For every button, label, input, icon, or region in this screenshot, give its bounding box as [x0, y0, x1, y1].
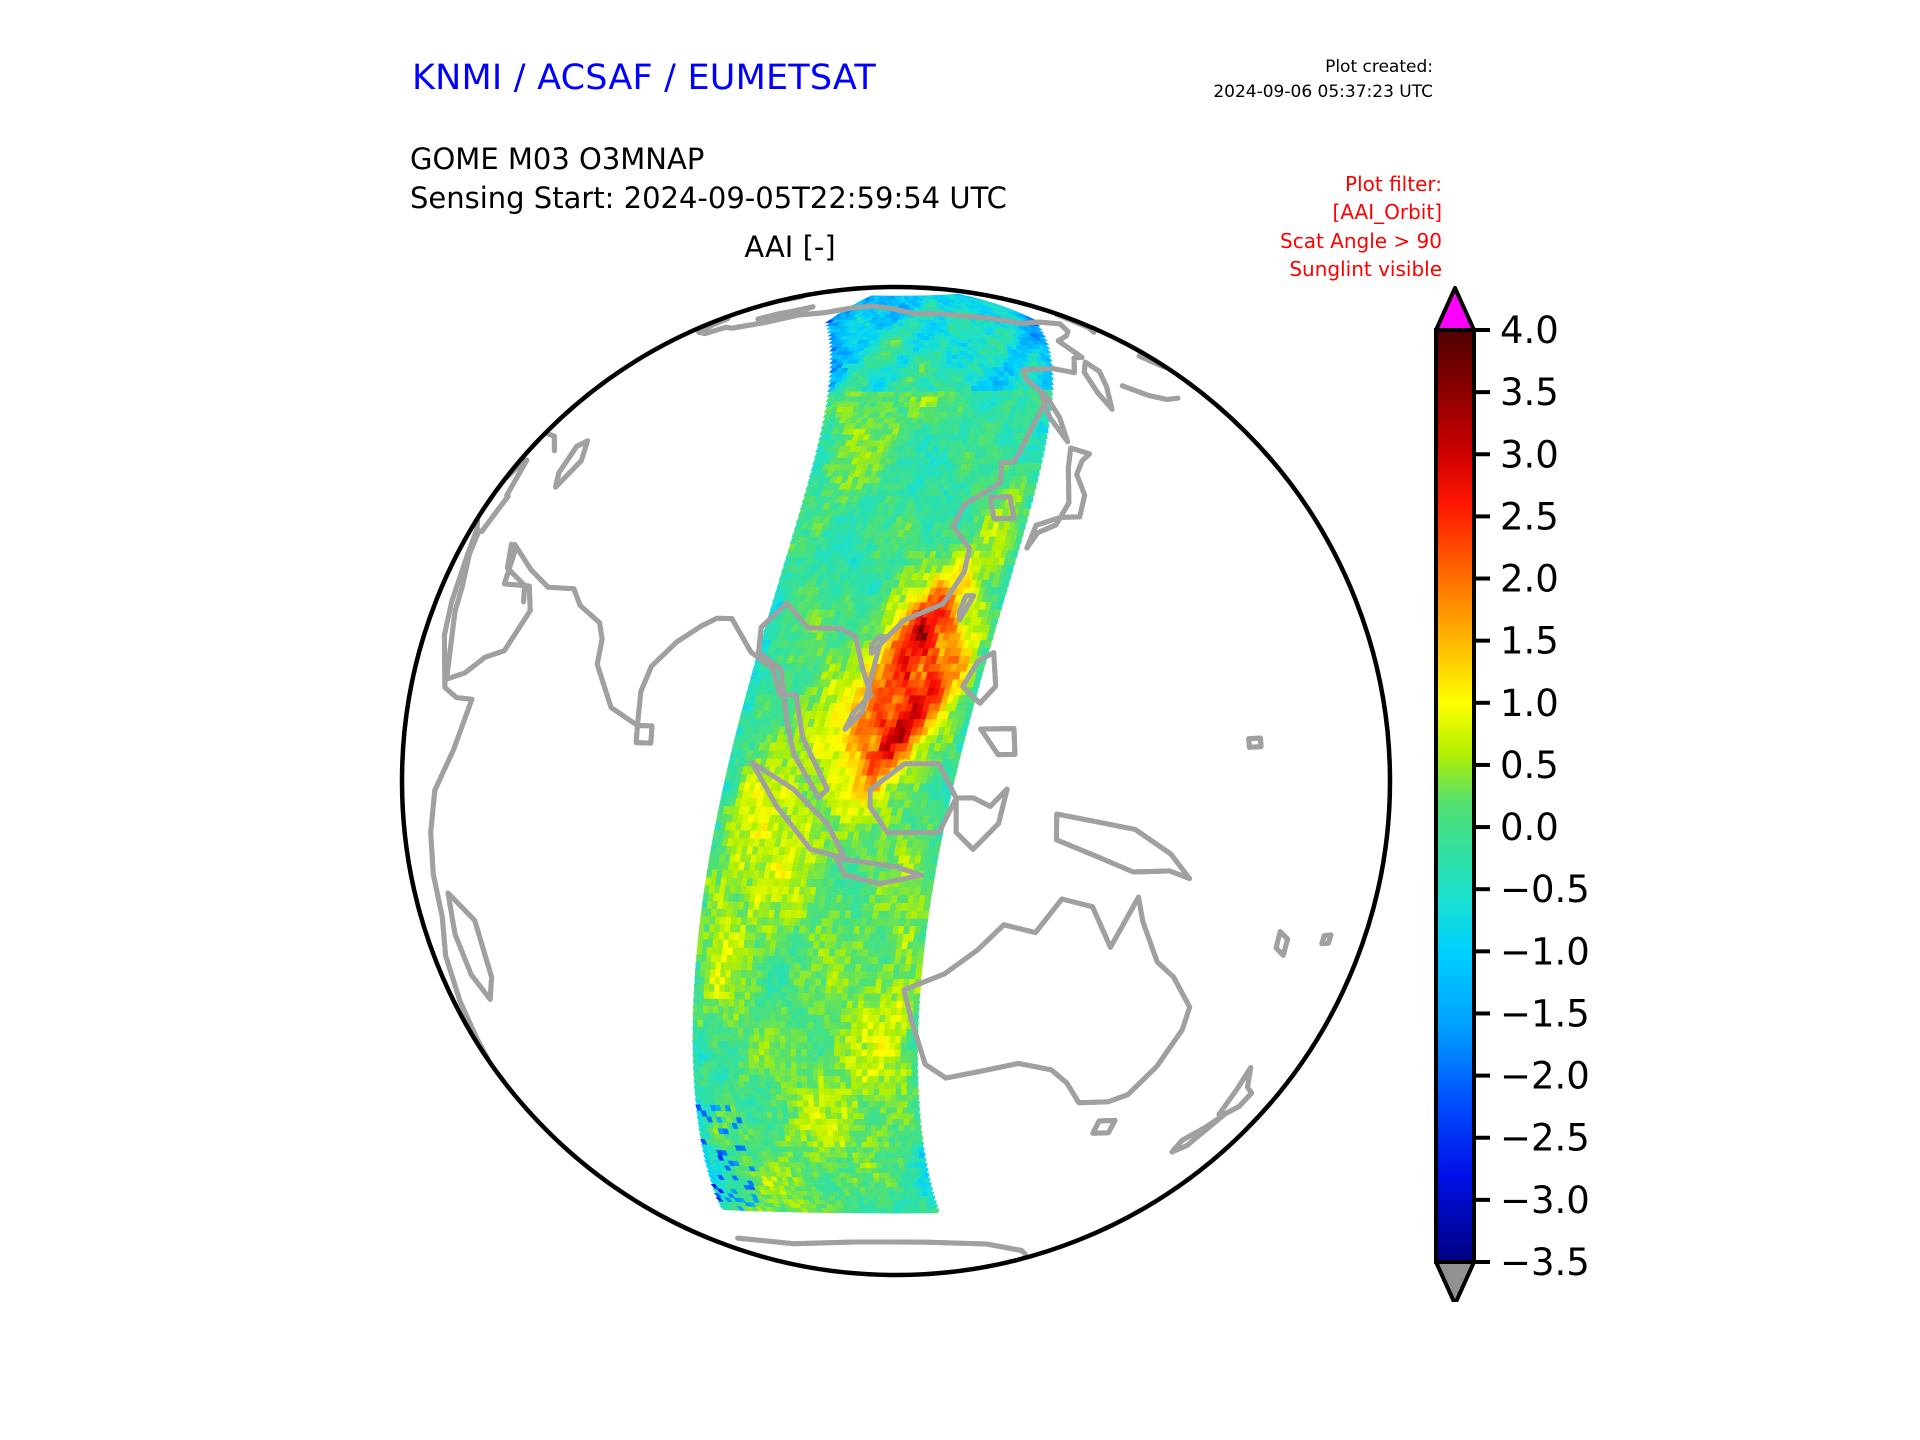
swath-pixel: [729, 1007, 734, 1014]
swath-pixel: [798, 1001, 804, 1008]
swath-pixel: [962, 382, 968, 387]
swath-pixel: [1004, 483, 1010, 490]
swath-pixel: [784, 971, 790, 978]
swath-pixel: [947, 360, 953, 364]
swath-pixel: [915, 324, 921, 327]
swath-pixel: [738, 948, 744, 956]
swath-pixel: [755, 1000, 760, 1007]
swath-pixel: [977, 391, 982, 396]
swath-pixel: [760, 1014, 765, 1021]
swath-pixel: [1011, 476, 1017, 483]
swath-pixel: [925, 360, 931, 364]
swath-pixel: [725, 985, 730, 992]
swath-pixel: [1029, 489, 1035, 496]
swath-pixel: [786, 1029, 791, 1036]
swath-pixel: [921, 919, 928, 927]
swath-pixel: [952, 351, 958, 355]
swath-pixel: [802, 1029, 808, 1036]
swath-pixel: [734, 1007, 739, 1014]
swath-pixel: [1036, 439, 1042, 445]
swath-pixel: [1017, 428, 1023, 434]
swath-pixel: [748, 948, 754, 956]
swath-pixel: [940, 340, 946, 344]
swath-pixel: [941, 373, 947, 378]
swath-pixel: [766, 993, 772, 1000]
swath-pixel: [819, 1022, 825, 1029]
swath-pixel: [924, 344, 930, 348]
swath-pixel: [723, 940, 729, 948]
swath-pixel: [913, 344, 919, 348]
swath-pixel: [998, 595, 1005, 603]
swath-pixel: [709, 985, 714, 992]
swath-pixel: [701, 962, 706, 970]
swath-pixel: [737, 956, 743, 964]
swath-pixel: [713, 940, 718, 948]
swath-pixel: [711, 963, 716, 971]
swath-pixel: [1011, 434, 1016, 440]
swath-pixel: [698, 940, 703, 948]
swath-pixel: [699, 999, 704, 1006]
plot-title-block: GOME M03 O3MNAP Sensing Start: 2024-09-0…: [410, 140, 1007, 218]
swath-pixel: [700, 970, 705, 978]
swath-pixel: [992, 396, 998, 401]
swath-pixel: [982, 446, 988, 452]
swath-pixel: [913, 1001, 920, 1008]
swath-pixel: [750, 1000, 755, 1007]
swath-pixel: [739, 1021, 745, 1028]
swath-pixel: [903, 321, 909, 324]
swath-pixel: [1033, 476, 1038, 483]
swath-pixel: [805, 979, 811, 986]
swath-pixel: [922, 330, 928, 333]
swath-pixel: [761, 986, 767, 993]
sensing-start-title: Sensing Start: 2024-09-05T22:59:54 UTC: [410, 179, 1007, 218]
swath-pixel: [723, 1028, 729, 1035]
swath-pixel: [797, 1015, 803, 1022]
swath-pixel: [946, 377, 952, 382]
swath-pixel: [992, 470, 998, 476]
swath-pixel: [726, 970, 731, 978]
swath-pixel: [804, 986, 810, 993]
swath-pixel: [924, 895, 931, 903]
swath-pixel: [1003, 580, 1010, 588]
swath-pixel: [776, 1015, 781, 1022]
swath-pixel: [947, 351, 953, 355]
swath-pixel: [951, 382, 957, 387]
swath-pixel: [744, 1021, 750, 1028]
swath-pixel: [1004, 417, 1009, 423]
swath-pixel: [702, 947, 707, 955]
swath-pixel: [941, 364, 947, 369]
swath-pixel: [978, 377, 984, 382]
swath-pixel: [930, 356, 936, 360]
swath-pixel: [743, 948, 749, 956]
swath-pixel: [998, 446, 1004, 452]
swath-pixel: [991, 401, 997, 406]
swath-pixel: [775, 1029, 780, 1036]
swath-pixel: [829, 1029, 835, 1036]
swath-pixel: [962, 412, 968, 418]
swath-pixel: [764, 956, 770, 964]
swath-pixel: [754, 948, 760, 956]
swath-pixel: [995, 406, 1001, 412]
swath-pixel: [1016, 537, 1022, 544]
swath-pixel: [778, 971, 784, 979]
swath-pixel: [986, 452, 992, 458]
swath-pixel: [972, 382, 978, 387]
swath-pixel: [769, 956, 775, 964]
swath-pixel: [771, 1007, 776, 1014]
swath-pixel: [716, 963, 721, 971]
swath-pixel: [997, 428, 1002, 434]
swath-pixel: [715, 925, 721, 933]
swath-pixel: [703, 1013, 709, 1020]
swath-pixel: [955, 392, 961, 397]
swath-pixel: [935, 373, 941, 378]
swath-pixel: [940, 336, 946, 340]
swath-pixel: [1027, 495, 1033, 502]
swath-pixel: [752, 963, 758, 971]
swath-pixel: [1024, 509, 1030, 516]
swath-pixel: [818, 1029, 824, 1036]
swath-pixel: [768, 964, 774, 972]
plot-created-label: Plot created:: [1213, 55, 1433, 80]
swath-pixel: [926, 888, 933, 896]
swath-pixel: [1015, 464, 1020, 470]
swath-pixel: [935, 340, 941, 344]
swath-pixel: [908, 321, 914, 324]
swath-pixel: [978, 440, 984, 446]
swath-pixel: [910, 327, 916, 330]
swath-pixel: [999, 440, 1005, 446]
swath-pixel: [1029, 470, 1034, 476]
swath-pixel: [776, 1022, 781, 1029]
swath-pixel: [930, 344, 936, 348]
swath-pixel: [736, 970, 741, 978]
swath-pixel: [788, 979, 794, 986]
swath-pixel: [1028, 451, 1033, 457]
swath-pixel: [698, 1013, 704, 1020]
swath-pixel: [1013, 470, 1019, 476]
swath-pixel: [800, 971, 806, 978]
swath-pixel: [978, 382, 984, 387]
swath-pixel: [996, 401, 1002, 406]
swath-pixel: [830, 1015, 836, 1022]
swath-pixel: [808, 1015, 814, 1022]
swath-pixel: [1011, 551, 1017, 558]
swath-pixel: [744, 1007, 749, 1014]
swath-pixel: [707, 947, 712, 955]
swath-pixel: [936, 360, 942, 364]
swath-pixel: [702, 955, 707, 963]
swath-pixel: [724, 999, 729, 1006]
swath-pixel: [971, 423, 977, 429]
swath-pixel: [995, 412, 1000, 418]
swath-pixel: [1006, 434, 1011, 440]
swath-pixel: [760, 1007, 765, 1014]
swath-pixel: [1017, 496, 1023, 503]
swath-pixel: [1013, 422, 1019, 428]
swath-pixel: [1009, 558, 1015, 565]
swath-pixel: [706, 962, 711, 970]
plot-filter-product: [AAI_Orbit]: [1280, 198, 1442, 226]
swath-pixel: [988, 386, 994, 391]
swath-pixel: [813, 1022, 819, 1029]
swath-pixel: [936, 356, 942, 360]
swath-pixel: [709, 932, 715, 940]
swath-pixel: [835, 1015, 841, 1022]
swath-pixel: [982, 423, 988, 429]
swath-pixel: [760, 941, 766, 949]
swath-pixel: [925, 320, 931, 323]
swath-pixel: [760, 1021, 765, 1028]
swath-pixel: [989, 412, 994, 418]
swath-pixel: [933, 330, 939, 333]
swath-pixel: [784, 964, 790, 972]
swath-pixel: [762, 978, 768, 985]
swath-pixel: [989, 440, 995, 446]
swath-pixel: [979, 412, 985, 418]
swath-pixel: [947, 368, 953, 373]
swath-pixel: [971, 397, 976, 402]
swath-pixel: [744, 1014, 749, 1021]
swath-pixel: [935, 344, 941, 348]
swath-pixel: [996, 602, 1003, 610]
swath-pixel: [756, 986, 762, 993]
swath-pixel: [741, 978, 746, 985]
swath-pixel: [732, 963, 737, 971]
swath-pixel: [720, 978, 725, 985]
swath-pixel: [909, 324, 915, 327]
swath-pixel: [719, 932, 725, 940]
swath-pixel: [695, 970, 700, 978]
swath-pixel: [734, 1014, 739, 1021]
swath-pixel: [771, 993, 777, 1000]
swath-pixel: [966, 392, 972, 397]
swath-pixel: [1007, 565, 1014, 572]
swath-pixel: [1014, 417, 1020, 423]
swath-pixel: [991, 428, 997, 434]
swath-pixel: [951, 377, 957, 382]
swath-pixel: [968, 373, 974, 378]
swath-pixel: [913, 994, 920, 1001]
swath-pixel: [723, 1014, 728, 1021]
swath-pixel: [991, 452, 997, 458]
swath-pixel: [994, 417, 999, 423]
swath-pixel: [947, 355, 953, 359]
swath-pixel: [974, 407, 980, 412]
swath-pixel: [764, 948, 770, 956]
swath-pixel: [709, 992, 714, 999]
swath-pixel: [694, 999, 699, 1006]
swath-pixel: [787, 993, 793, 1000]
plot-filter-sunglint: Sunglint visible: [1280, 255, 1442, 283]
swath-pixel: [813, 1015, 819, 1022]
swath-pixel: [960, 397, 966, 402]
swath-pixel: [918, 337, 924, 341]
swath-pixel: [925, 348, 931, 352]
swath-pixel: [728, 940, 734, 948]
swath-pixel: [721, 970, 726, 978]
swath-pixel: [987, 446, 993, 452]
swath-pixel: [797, 1029, 803, 1036]
swath-pixel: [757, 971, 763, 979]
swath-pixel: [989, 625, 996, 633]
swath-pixel: [745, 993, 750, 1000]
swath-pixel: [940, 382, 946, 387]
swath-pixel: [776, 1000, 782, 1007]
swath-pixel: [749, 1014, 754, 1021]
swath-pixel: [718, 940, 724, 948]
swath-pixel: [1027, 457, 1032, 463]
swath-pixel: [916, 964, 923, 972]
swath-pixel: [824, 1029, 830, 1036]
swath-pixel: [768, 971, 774, 978]
swath-pixel: [810, 986, 816, 993]
swath-pixel: [792, 1001, 798, 1008]
swath-pixel: [704, 924, 710, 932]
swath-pixel: [714, 992, 719, 999]
swath-pixel: [944, 392, 950, 397]
swath-pixel: [846, 1029, 852, 1036]
swath-pixel: [999, 417, 1004, 423]
swath-pixel: [914, 321, 920, 324]
swath-pixel: [783, 979, 789, 986]
swath-pixel: [952, 355, 958, 359]
swath-pixel: [759, 948, 765, 956]
swath-pixel: [1034, 445, 1040, 451]
swath-pixel: [1023, 451, 1028, 457]
swath-pixel: [792, 1022, 798, 1029]
swath-pixel: [703, 940, 708, 948]
swath-pixel: [1036, 463, 1041, 469]
swath-pixel: [1026, 482, 1031, 489]
swath-pixel: [732, 955, 738, 963]
swath-pixel: [724, 992, 729, 999]
swath-pixel: [726, 963, 731, 971]
swath-pixel: [819, 1015, 825, 1022]
swath-pixel: [965, 423, 971, 429]
swath-pixel: [935, 378, 941, 383]
swath-pixel: [835, 1029, 841, 1036]
swath-pixel: [936, 364, 942, 368]
swath-pixel: [803, 1015, 809, 1022]
swath-pixel: [745, 933, 751, 941]
swath-pixel: [1010, 440, 1015, 446]
swath-pixel: [963, 368, 969, 373]
swath-pixel: [952, 364, 958, 369]
swath-pixel: [970, 402, 976, 407]
swath-pixel: [705, 977, 710, 985]
swath-pixel: [751, 978, 757, 985]
swath-pixel: [990, 458, 996, 464]
swath-pixel: [803, 1008, 809, 1015]
swath-pixel: [819, 1008, 825, 1015]
swath-pixel: [786, 1015, 792, 1022]
swath-pixel: [729, 1000, 734, 1007]
swath-pixel: [1002, 428, 1007, 434]
swath-pixel: [808, 1022, 814, 1029]
swath-pixel: [698, 1006, 704, 1013]
swath-pixel: [941, 348, 947, 352]
swath-pixel: [987, 391, 993, 396]
swath-pixel: [730, 925, 736, 933]
swath-pixel: [747, 971, 753, 979]
swath-pixel: [770, 1022, 775, 1029]
swath-pixel: [750, 933, 756, 941]
swath-pixel: [755, 1007, 760, 1014]
swath-pixel: [997, 396, 1003, 401]
swath-pixel: [723, 948, 729, 956]
swath-pixel: [713, 1013, 719, 1020]
swath-pixel: [754, 1021, 759, 1028]
swath-pixel: [957, 412, 963, 417]
swath-pixel: [781, 1022, 786, 1029]
swath-pixel: [739, 1014, 744, 1021]
swath-pixel: [998, 423, 1003, 429]
swath-pixel: [798, 993, 804, 1000]
swath-pixel: [928, 333, 934, 337]
swath-pixel: [956, 382, 962, 387]
plot-filter-scat-angle: Scat Angle > 90: [1280, 227, 1442, 255]
swath-pixel: [771, 1000, 777, 1007]
swath-pixel: [928, 330, 934, 333]
swath-pixel: [967, 377, 973, 382]
swath-pixel: [1042, 433, 1048, 439]
swath-pixel: [700, 917, 706, 925]
swath-pixel: [825, 1001, 831, 1008]
swath-pixel: [950, 387, 956, 392]
swath-pixel: [730, 978, 735, 985]
swath-pixel: [986, 401, 991, 406]
swath-pixel: [946, 373, 952, 378]
swath-pixel: [739, 1007, 744, 1014]
swath-pixel: [909, 318, 914, 321]
swath-pixel: [714, 999, 719, 1006]
swath-pixel: [1041, 439, 1047, 445]
instrument-product-title: GOME M03 O3MNAP: [410, 140, 1007, 179]
swath-pixel: [709, 999, 714, 1006]
swath-pixel: [761, 993, 767, 1000]
swath-pixel: [1020, 464, 1025, 470]
swath-pixel: [976, 396, 981, 401]
swath-pixel: [1009, 446, 1014, 452]
swath-pixel: [941, 368, 947, 373]
swath-pixel: [728, 1014, 734, 1021]
swath-pixel: [968, 368, 974, 373]
swath-pixel: [693, 1006, 699, 1013]
swath-pixel: [916, 327, 922, 330]
swath-pixel: [835, 1008, 841, 1015]
swath-pixel: [705, 970, 710, 978]
swath-pixel: [1005, 440, 1010, 446]
swath-pixel: [964, 402, 970, 407]
swath-pixel: [985, 407, 990, 413]
swath-pixel: [719, 999, 724, 1006]
swath-pixel: [1018, 470, 1023, 476]
swath-pixel: [825, 1008, 831, 1015]
swath-pixel: [797, 1008, 803, 1015]
swath-pixel: [913, 1008, 920, 1015]
swath-pixel: [740, 985, 745, 992]
swath-pixel: [1030, 463, 1035, 469]
swath-pixel: [984, 412, 989, 418]
swath-pixel: [783, 986, 789, 993]
swath-pixel: [731, 970, 736, 978]
swath-pixel: [704, 992, 709, 999]
swath-pixel: [976, 423, 982, 429]
swath-pixel: [1024, 470, 1029, 476]
